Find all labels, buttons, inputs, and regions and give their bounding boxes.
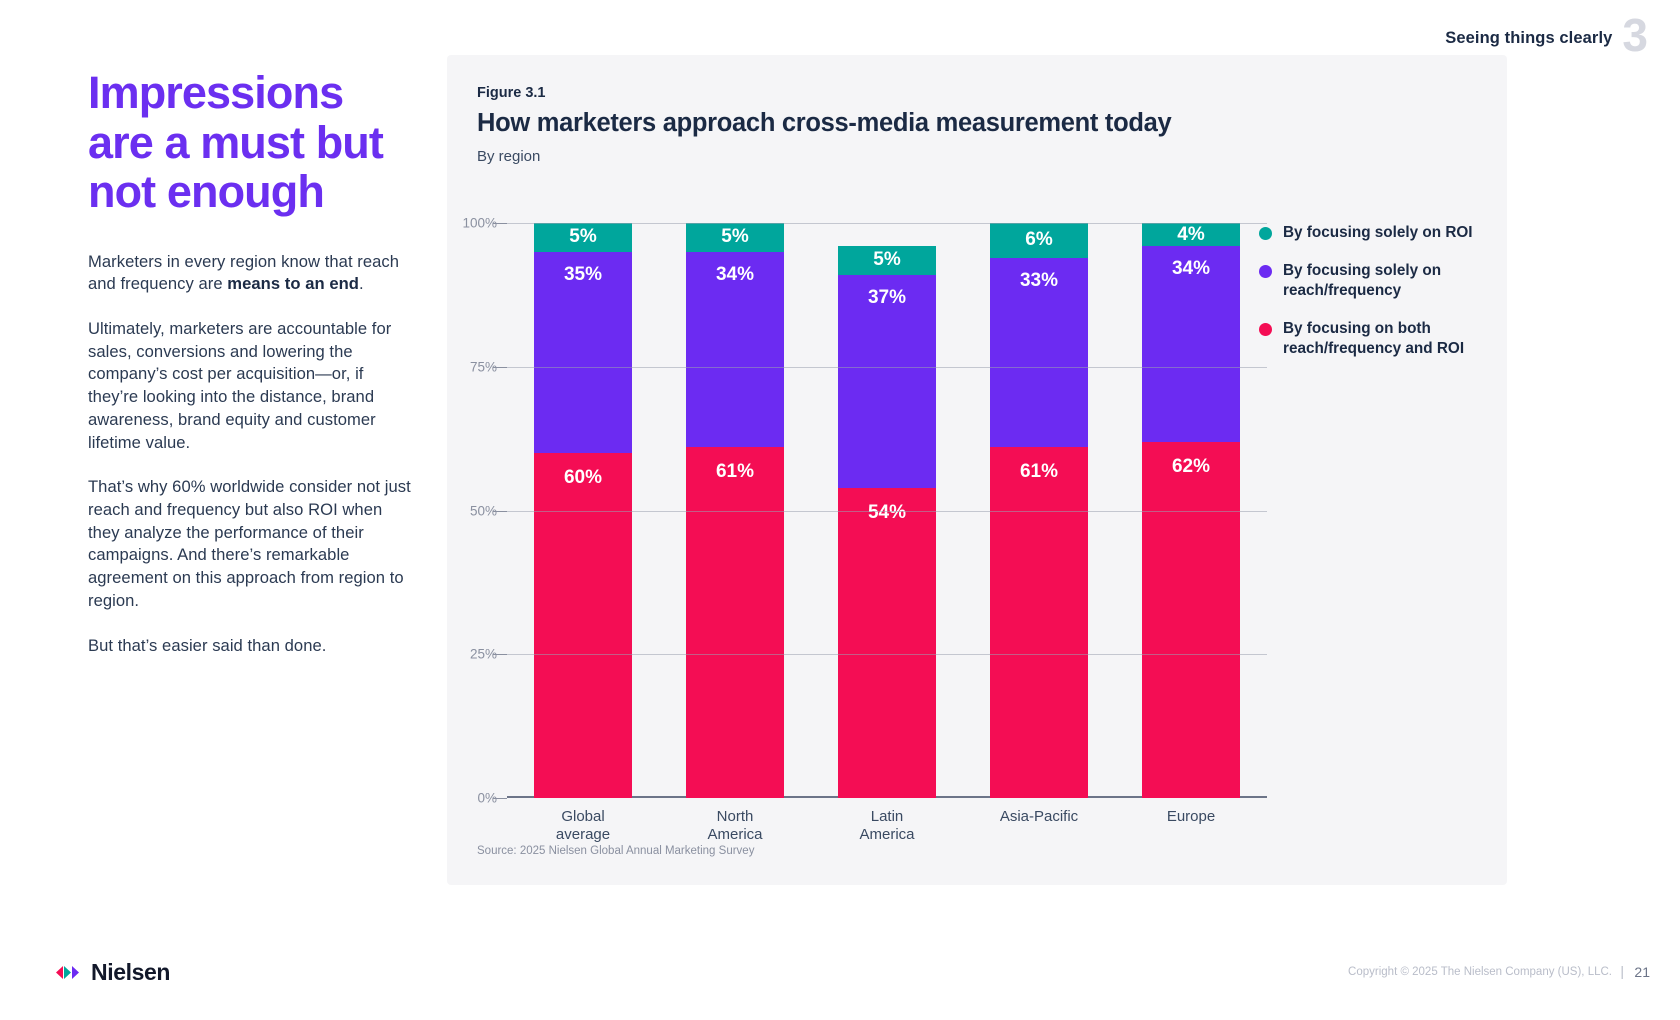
bar-segment[interactable]: 34% bbox=[686, 252, 784, 448]
figure-card: Figure 3.1 How marketers approach cross-… bbox=[447, 55, 1507, 885]
bar-segment[interactable]: 60% bbox=[534, 453, 632, 798]
x-axis-label-line: Europe bbox=[1115, 808, 1267, 826]
copyright-text: Copyright © 2025 The Nielsen Company (US… bbox=[1348, 966, 1612, 978]
bar-segment[interactable]: 4% bbox=[1142, 223, 1240, 246]
legend-swatch-icon bbox=[1259, 265, 1272, 278]
legend-label-line: By focusing on both bbox=[1283, 319, 1464, 339]
bar-segment-label: 34% bbox=[716, 264, 754, 286]
bar-segment[interactable]: 61% bbox=[990, 447, 1088, 798]
legend-swatch-icon bbox=[1259, 227, 1272, 240]
body-paragraph: That’s why 60% worldwide consider not ju… bbox=[88, 476, 418, 612]
y-axis-tick bbox=[493, 798, 507, 799]
bar-segment-label: 54% bbox=[868, 502, 906, 524]
x-axis-label-line: Asia-Pacific bbox=[963, 808, 1115, 826]
bar-segment-label: 4% bbox=[1177, 224, 1204, 246]
legend-label: By focusing solely onreach/frequency bbox=[1283, 261, 1441, 301]
chart-legend: By focusing solely on ROIBy focusing sol… bbox=[1259, 223, 1494, 376]
x-axis-label: Globalaverage bbox=[507, 808, 659, 844]
page-title: Impressions are a must but not enough bbox=[88, 68, 418, 217]
x-axis-label: LatinAmerica bbox=[811, 808, 963, 844]
bar-segment[interactable]: 37% bbox=[838, 275, 936, 488]
legend-item[interactable]: By focusing solely onreach/frequency bbox=[1259, 261, 1494, 301]
gridline bbox=[507, 654, 1267, 655]
body-paragraph: Marketers in every region know that reac… bbox=[88, 251, 418, 296]
body-copy: Marketers in every region know that reac… bbox=[88, 251, 418, 658]
bar-segment-label: 35% bbox=[564, 264, 602, 286]
y-axis-tick bbox=[493, 511, 507, 512]
x-axis-label: NorthAmerica bbox=[659, 808, 811, 844]
bar-segment-label: 5% bbox=[873, 249, 900, 271]
nielsen-mark-icon bbox=[56, 964, 82, 981]
legend-label-line: reach/frequency bbox=[1283, 281, 1441, 301]
bar-segment-label: 61% bbox=[716, 461, 754, 483]
bar-segment[interactable]: 62% bbox=[1142, 442, 1240, 799]
bar-segment[interactable]: 34% bbox=[1142, 246, 1240, 442]
header-tagline: Seeing things clearly bbox=[1445, 29, 1612, 48]
bar-segment-label: 34% bbox=[1172, 258, 1210, 280]
x-axis-label-line: America bbox=[659, 826, 811, 844]
x-axis-label: Asia-Pacific bbox=[963, 808, 1115, 844]
bar-segment[interactable]: 33% bbox=[990, 258, 1088, 448]
x-axis-label-line: America bbox=[811, 826, 963, 844]
bar-segment[interactable]: 5% bbox=[686, 223, 784, 252]
x-axis-label-line: Latin bbox=[811, 808, 963, 826]
bar-segment[interactable]: 5% bbox=[838, 246, 936, 275]
figure-label: Figure 3.1 bbox=[477, 85, 546, 101]
legend-label-line: reach/frequency and ROI bbox=[1283, 339, 1464, 359]
page-number: 21 bbox=[1634, 964, 1650, 980]
page-header: Seeing things clearly 3 bbox=[1445, 22, 1648, 55]
bar-segment[interactable]: 61% bbox=[686, 447, 784, 798]
slide-page: Seeing things clearly 3 Impressions are … bbox=[0, 0, 1680, 1020]
bar-segment-label: 5% bbox=[721, 226, 748, 248]
legend-label: By focusing solely on ROI bbox=[1283, 223, 1473, 243]
bar-segment-label: 6% bbox=[1025, 229, 1052, 251]
legend-label-line: By focusing solely on ROI bbox=[1283, 223, 1473, 243]
figure-subtitle: By region bbox=[477, 148, 540, 165]
x-axis-label: Europe bbox=[1115, 808, 1267, 844]
bar-segment-label: 61% bbox=[1020, 461, 1058, 483]
legend-label-line: By focusing solely on bbox=[1283, 261, 1441, 281]
emphasis-text: means to an end bbox=[227, 274, 359, 293]
y-axis-tick bbox=[493, 367, 507, 368]
bar-segment[interactable]: 6% bbox=[990, 223, 1088, 258]
y-axis-tick bbox=[493, 223, 507, 224]
legend-item[interactable]: By focusing solely on ROI bbox=[1259, 223, 1494, 243]
bar-segment[interactable]: 54% bbox=[838, 488, 936, 799]
bar-segment-label: 5% bbox=[569, 226, 596, 248]
figure-source: Source: 2025 Nielsen Global Annual Marke… bbox=[477, 845, 754, 857]
footer-separator: | bbox=[1620, 963, 1624, 979]
nielsen-logo: Nielsen bbox=[56, 959, 170, 986]
left-column: Impressions are a must but not enough Ma… bbox=[88, 68, 418, 679]
x-axis-labels: GlobalaverageNorthAmericaLatinAmericaAsi… bbox=[507, 808, 1267, 844]
bar-segment[interactable]: 5% bbox=[534, 223, 632, 252]
y-axis-tick bbox=[493, 654, 507, 655]
legend-label: By focusing on bothreach/frequency and R… bbox=[1283, 319, 1464, 359]
stacked-bar[interactable]: 5%37%54% bbox=[838, 246, 936, 798]
figure-title: How marketers approach cross-media measu… bbox=[477, 109, 1171, 138]
gridline bbox=[507, 367, 1267, 368]
x-axis-label-line: average bbox=[507, 826, 659, 844]
x-axis-label-line: Global bbox=[507, 808, 659, 826]
legend-swatch-icon bbox=[1259, 323, 1272, 336]
bar-segment-label: 33% bbox=[1020, 270, 1058, 292]
body-paragraph: But that’s easier said than done. bbox=[88, 635, 418, 658]
bar-segment-label: 62% bbox=[1172, 456, 1210, 478]
chart-plot-area: 5%35%60%5%34%61%5%37%54%6%33%61%4%34%62%… bbox=[507, 223, 1267, 798]
brand-name: Nielsen bbox=[91, 959, 170, 986]
bar-segment-label: 37% bbox=[868, 287, 906, 309]
x-axis-label-line: North bbox=[659, 808, 811, 826]
bar-segment[interactable]: 35% bbox=[534, 252, 632, 453]
bar-segment-label: 60% bbox=[564, 467, 602, 489]
gridline bbox=[507, 511, 1267, 512]
legend-item[interactable]: By focusing on bothreach/frequency and R… bbox=[1259, 319, 1494, 359]
body-paragraph: Ultimately, marketers are accountable fo… bbox=[88, 318, 418, 454]
gridline bbox=[507, 223, 1267, 224]
y-axis-tick-label: 100% bbox=[462, 216, 497, 231]
chapter-number: 3 bbox=[1622, 16, 1648, 55]
